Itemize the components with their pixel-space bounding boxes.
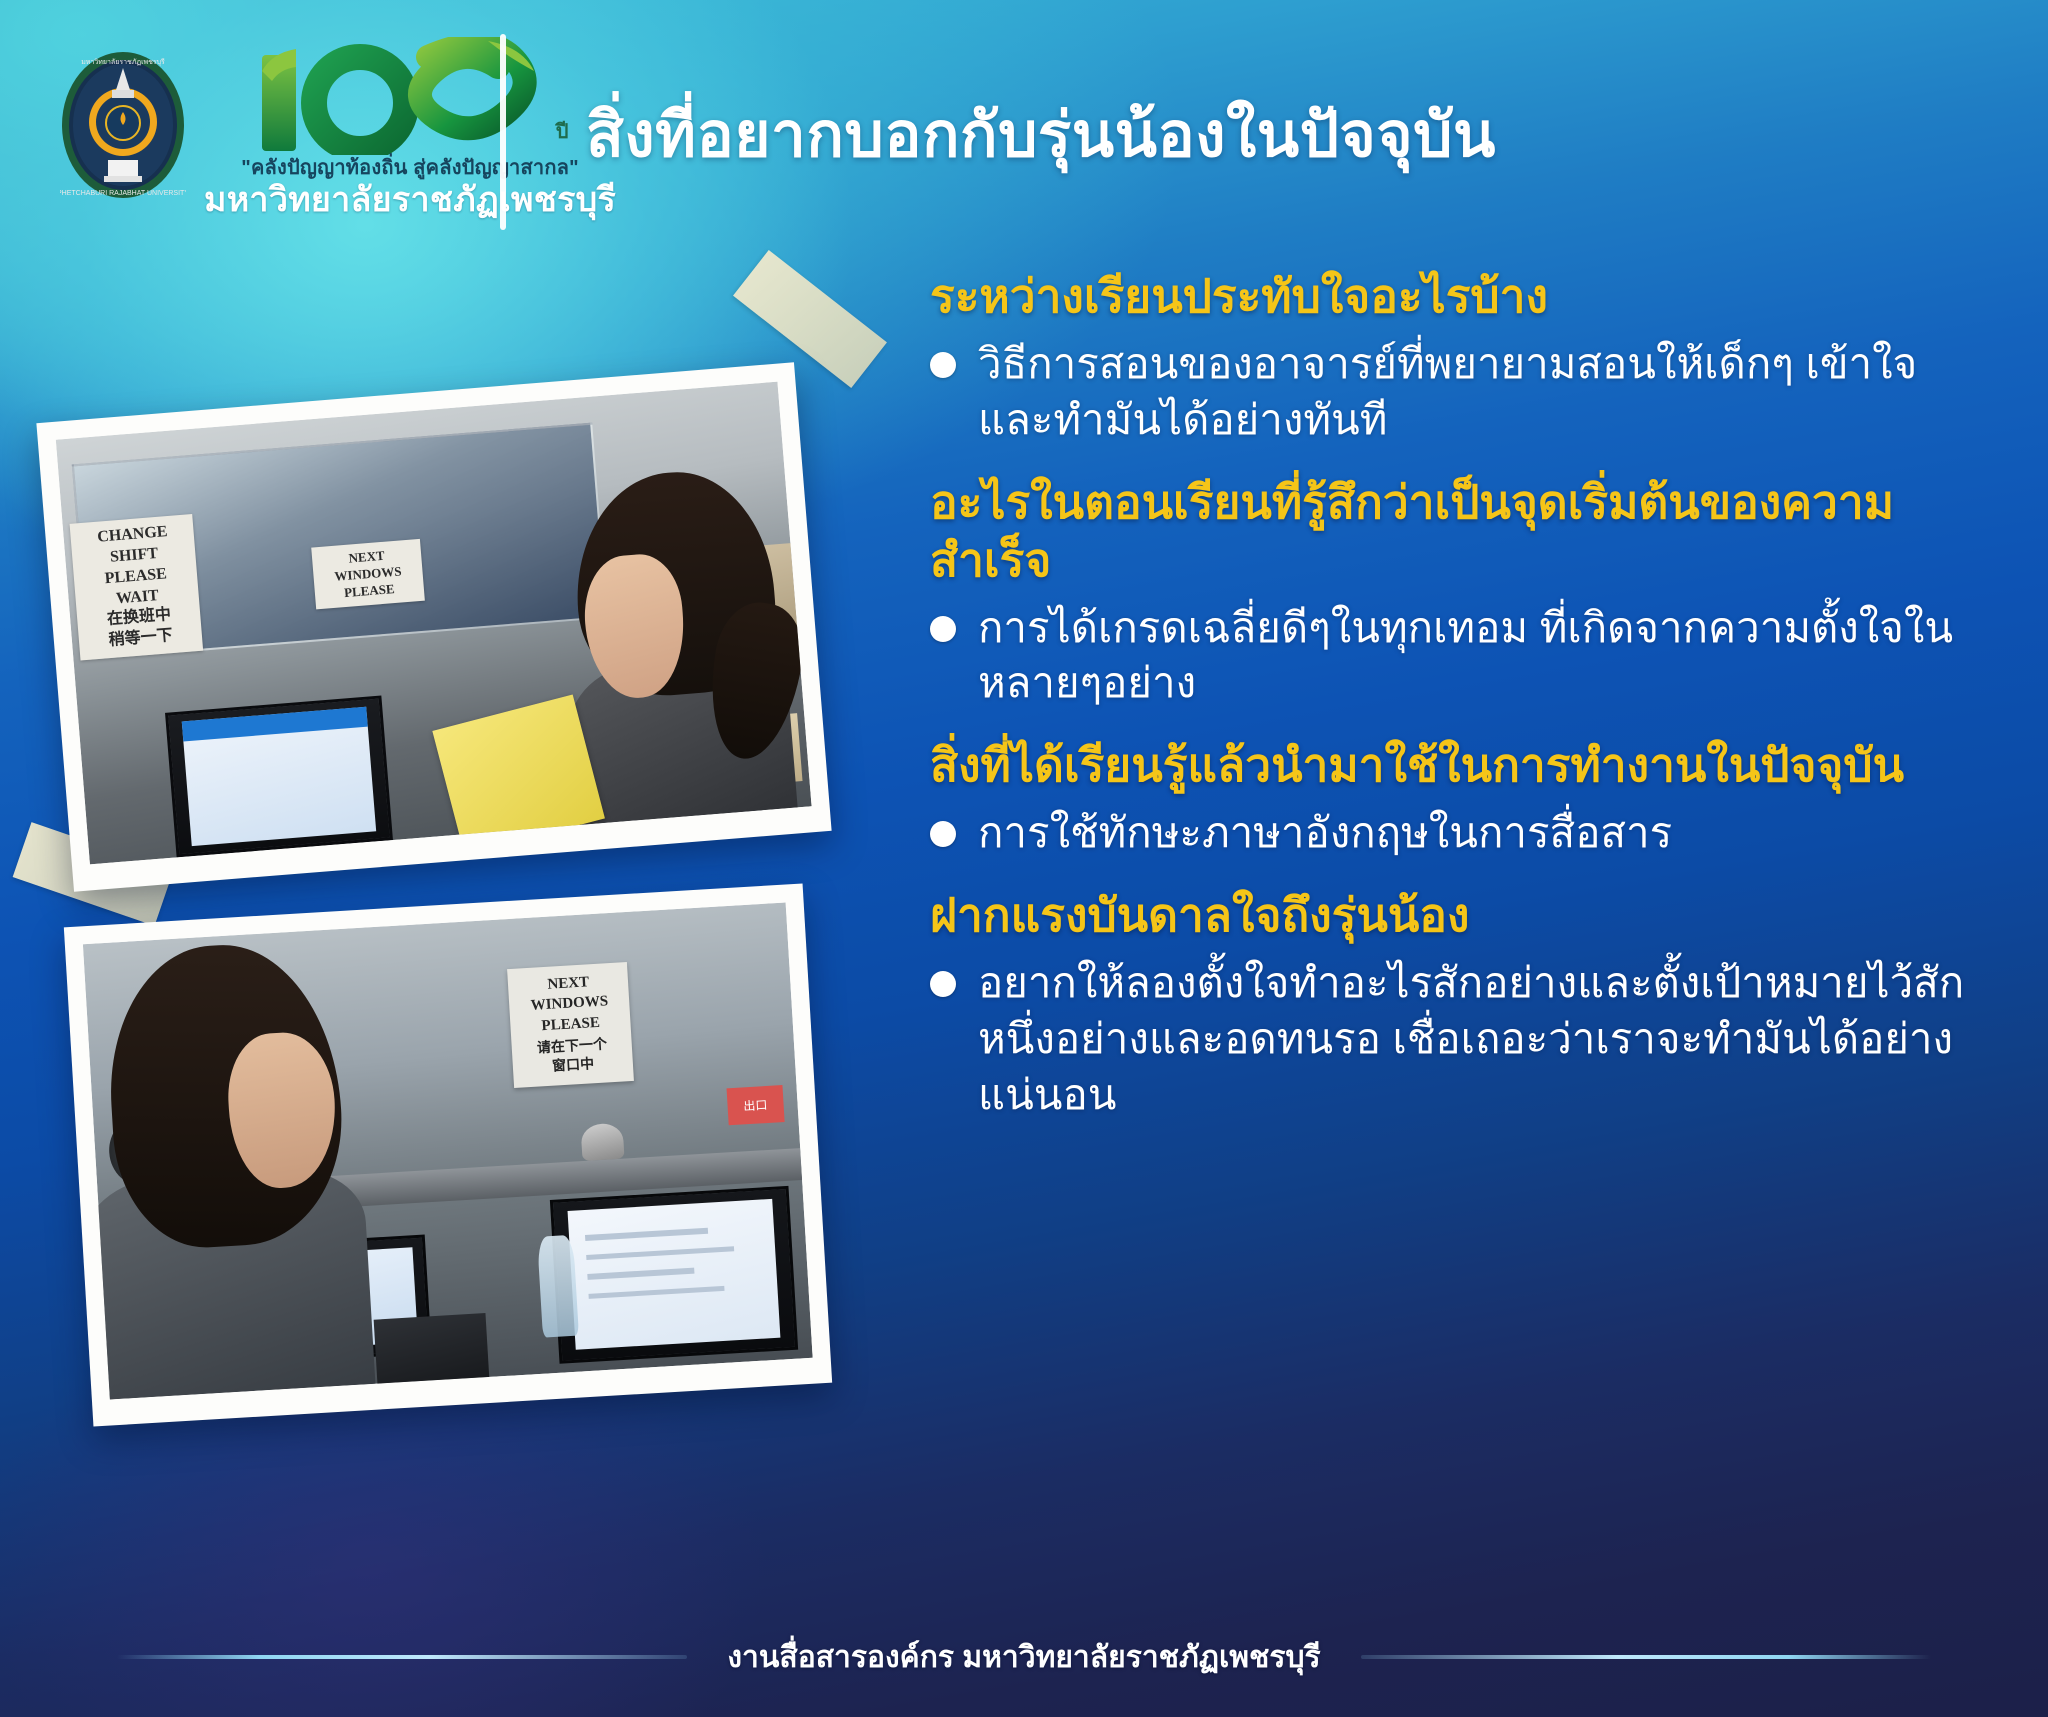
footer: งานสื่อสารองค์กร มหาวิทยาลัยราชภัฏเพชรบุ… <box>0 1597 2048 1717</box>
photo-card-1: CHANGESHIFTPLEASEWAIT在换班中稍等一下 NEXTWINDOW… <box>36 362 831 891</box>
section-4-title: ฝากแรงบันดาลใจถึงรุ่นน้อง <box>930 887 1990 945</box>
photo2-sign-chinese: 请在下一个窗口中 <box>516 1035 630 1079</box>
svg-text:มหาวิทยาลัยราชภัฏเพชรบุรี: มหาวิทยาลัยราชภัฏเพชรบุรี <box>81 58 165 66</box>
photo1-sign-next-windows: NEXTWINDOWSPLEASE <box>311 539 424 610</box>
section-4-bullet-1: อยากให้ลองตั้งใจทำอะไรสักอย่างและตั้งเป้… <box>930 955 1990 1123</box>
section-2-bullet-1: การได้เกรดเฉลี่ยดีๆในทุกเทอม ที่เกิดจากค… <box>930 600 1990 712</box>
bullet-dot-icon <box>930 352 956 378</box>
photo1-yellow-document <box>432 694 604 854</box>
section-2-bullet-1-text: การได้เกรดเฉลี่ยดีๆในทุกเทอม ที่เกิดจากค… <box>978 600 1990 712</box>
section-4: ฝากแรงบันดาลใจถึงรุ่นน้อง อยากให้ลองตั้ง… <box>930 887 1990 1123</box>
anniversary-100-mark: ปี "คลังปัญญาท้องถิ่น สู่คลังปัญญาสากล" … <box>204 37 616 219</box>
footer-line-left <box>117 1655 687 1659</box>
photo2-scene: NEXTWINDOWSPLEASE 请在下一个窗口中 出口 <box>83 903 813 1400</box>
section-2: อะไรในตอนเรียนที่รู้สึกว่าเป็นจุดเริ่มต้… <box>930 474 1990 712</box>
section-3-title: สิ่งที่ได้เรียนรู้แล้วนำมาใช้ในการทำงานใ… <box>930 737 1990 795</box>
svg-text:PHETCHABURI RAJABHAT UNIVERSIT: PHETCHABURI RAJABHAT UNIVERSITY <box>60 190 186 197</box>
section-3: สิ่งที่ได้เรียนรู้แล้วนำมาใช้ในการทำงานใ… <box>930 737 1990 861</box>
photo1-monitor <box>165 696 393 858</box>
section-3-bullet-1: การใช้ทักษะภาษาอังกฤษในการสื่อสาร <box>930 805 1990 861</box>
photo2-exit-sign: 出口 <box>726 1085 784 1125</box>
section-1-title: ระหว่างเรียนประทับใจอะไรบ้าง <box>930 268 1990 326</box>
photo1-scene: CHANGESHIFTPLEASEWAIT在换班中稍等一下 NEXTWINDOW… <box>56 382 812 865</box>
university-seal-icon: มหาวิทยาลัยราชภัฏเพชรบุรี PHETCHABURI RA… <box>60 50 186 200</box>
photo1-screen <box>181 707 376 846</box>
photo2-water-bottle <box>537 1235 578 1337</box>
header: มหาวิทยาลัยราชภัฏเพชรบุรี PHETCHABURI RA… <box>0 0 2048 250</box>
photo2-person <box>83 926 419 1400</box>
footer-line-right <box>1361 1655 1931 1659</box>
logo-university-name: มหาวิทยาลัยราชภัฏเพชรบุรี <box>204 183 616 219</box>
university-logo-lockup: มหาวิทยาลัยราชภัฏเพชรบุรี PHETCHABURI RA… <box>60 31 616 219</box>
photo2-sign-next-windows: NEXTWINDOWSPLEASE 请在下一个窗口中 <box>507 962 633 1087</box>
section-4-bullet-1-text: อยากให้ลองตั้งใจทำอะไรสักอย่างและตั้งเป้… <box>978 955 1990 1123</box>
bullet-dot-icon <box>930 971 956 997</box>
anniversary-number-graphic: ปี <box>252 37 569 155</box>
photo2-monitor <box>549 1186 798 1364</box>
footer-text: งานสื่อสารองค์กร มหาวิทยาลัยราชภัฏเพชรบุ… <box>727 1634 1320 1681</box>
photo1-screen-titlebar <box>181 707 368 742</box>
bullet-dot-icon <box>930 616 956 642</box>
content-column: ระหว่างเรียนประทับใจอะไรบ้าง วิธีการสอนข… <box>930 268 1990 1149</box>
photo1-sign-change-shift: CHANGESHIFTPLEASEWAIT在换班中稍等一下 <box>70 514 204 660</box>
section-3-bullet-1-text: การใช้ทักษะภาษาอังกฤษในการสื่อสาร <box>978 805 1672 861</box>
photo-card-2: NEXTWINDOWSPLEASE 请在下一个窗口中 出口 <box>64 883 832 1426</box>
photo2-service-bell <box>580 1122 624 1161</box>
photo2-screen <box>567 1199 780 1350</box>
section-1-bullet-1: วิธีการสอนของอาจารย์ที่พยายามสอนให้เด็กๆ… <box>930 336 1990 448</box>
logo-tagline: "คลังปัญญาท้องถิ่น สู่คลังปัญญาสากล" <box>241 151 579 183</box>
section-1-bullet-1-text: วิธีการสอนของอาจารย์ที่พยายามสอนให้เด็กๆ… <box>978 336 1990 448</box>
section-1: ระหว่างเรียนประทับใจอะไรบ้าง วิธีการสอนข… <box>930 268 1990 448</box>
section-2-title: อะไรในตอนเรียนที่รู้สึกว่าเป็นจุดเริ่มต้… <box>930 474 1990 590</box>
bullet-dot-icon <box>930 821 956 847</box>
header-divider <box>500 34 506 230</box>
photo-image-2: NEXTWINDOWSPLEASE 请在下一个窗口中 出口 <box>83 903 813 1400</box>
anniversary-year-unit: ปี <box>556 115 569 147</box>
infographic-poster: มหาวิทยาลัยราชภัฏเพชรบุรี PHETCHABURI RA… <box>0 0 2048 1717</box>
page-title: สิ่งที่อยากบอกกับรุ่นน้องในปัจจุบัน <box>586 86 1496 184</box>
photo-image-1: CHANGESHIFTPLEASEWAIT在换班中稍等一下 NEXTWINDOW… <box>56 382 812 865</box>
